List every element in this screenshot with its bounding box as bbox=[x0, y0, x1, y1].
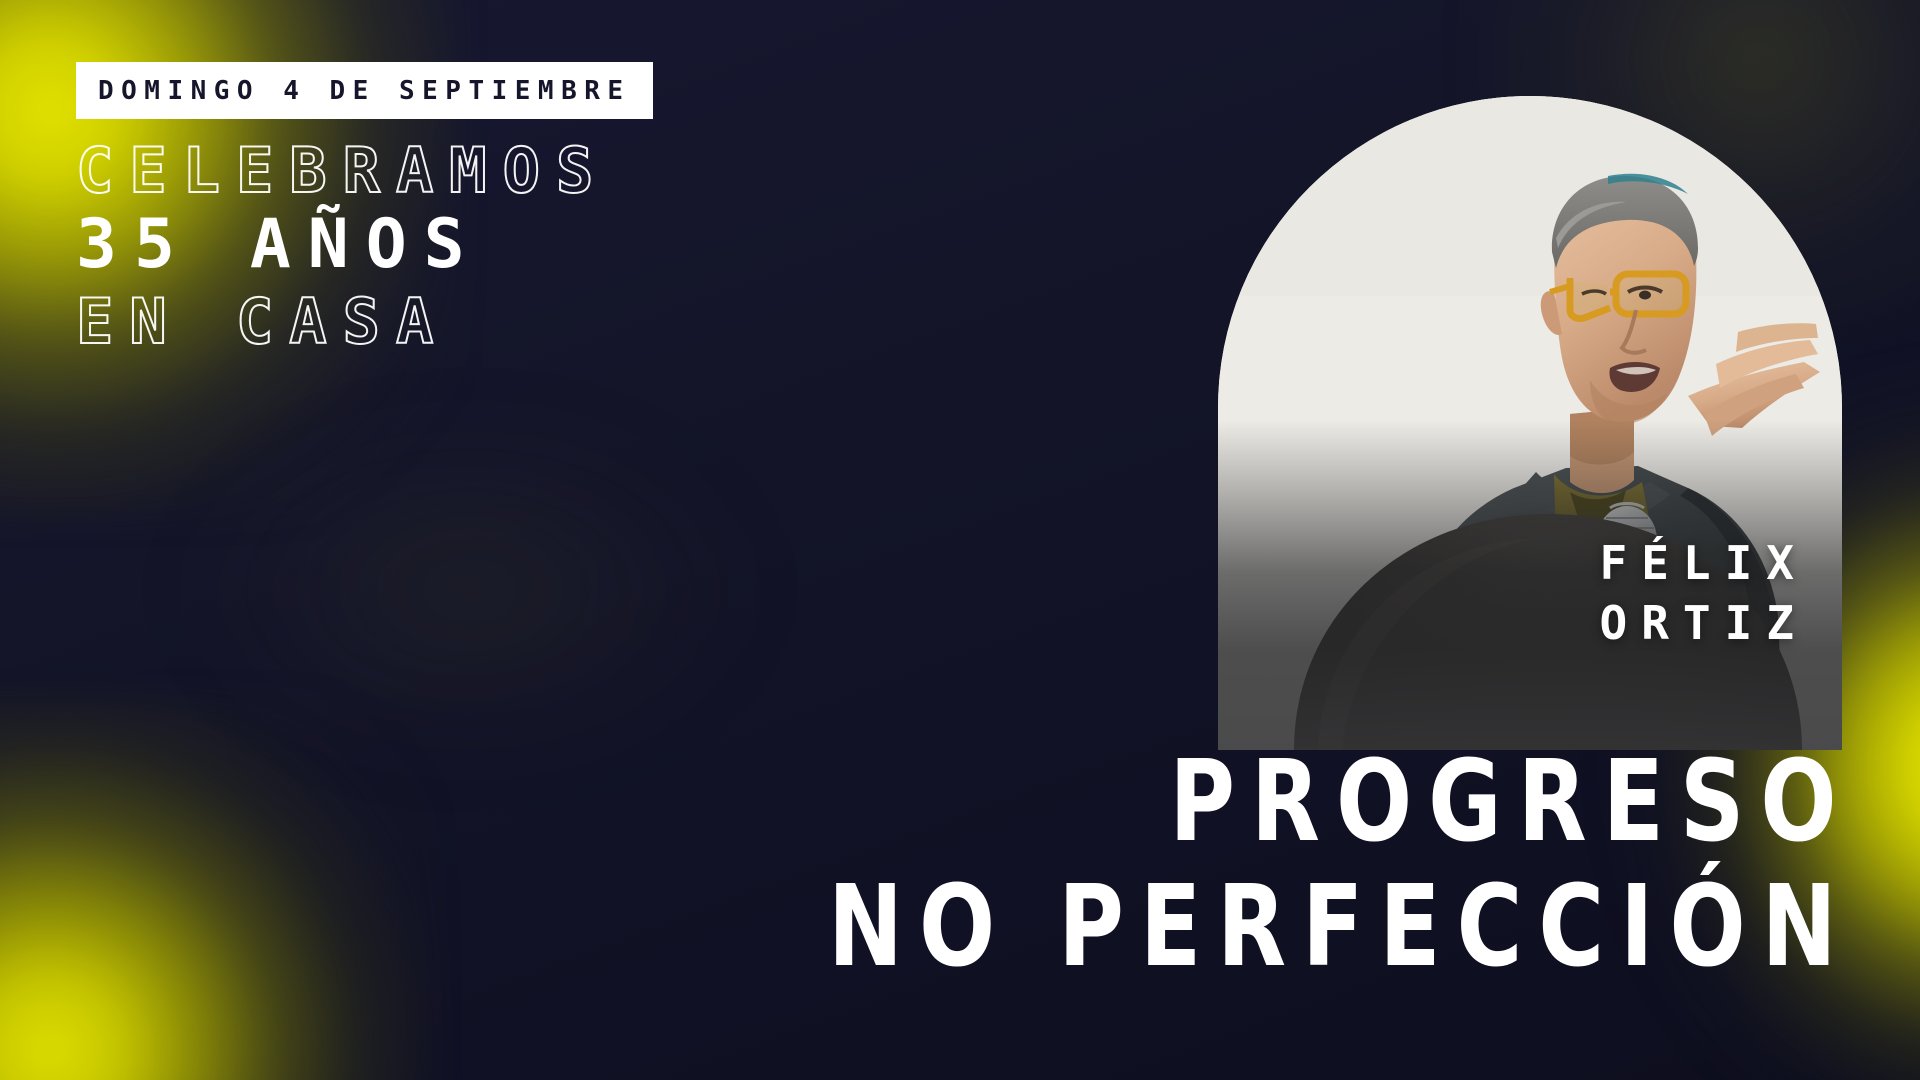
date-badge: DOMINGO 4 DE SEPTIEMBRE bbox=[76, 62, 653, 119]
speaker-portrait-arch: FÉLIX ORTIZ bbox=[1218, 96, 1842, 750]
headline-en-casa: EN CASA bbox=[76, 290, 653, 353]
speaker-first-name: FÉLIX bbox=[1600, 534, 1808, 594]
headline-years: 35 AÑOS bbox=[76, 210, 653, 279]
event-poster: DOMINGO 4 DE SEPTIEMBRE CELEBRAMOS 35 AÑ… bbox=[0, 0, 1920, 1080]
speaker-last-name: ORTIZ bbox=[1600, 594, 1808, 654]
headline-line-1: PROGRESO bbox=[828, 740, 1856, 865]
event-info-block: DOMINGO 4 DE SEPTIEMBRE CELEBRAMOS 35 AÑ… bbox=[76, 62, 653, 353]
main-headline: PROGRESO NO PERFECCIÓN bbox=[571, 740, 1856, 991]
headline-line-2: NO PERFECCIÓN bbox=[828, 865, 1856, 990]
headline-celebramos: CELEBRAMOS bbox=[76, 139, 653, 202]
speaker-name: FÉLIX ORTIZ bbox=[1600, 534, 1808, 654]
